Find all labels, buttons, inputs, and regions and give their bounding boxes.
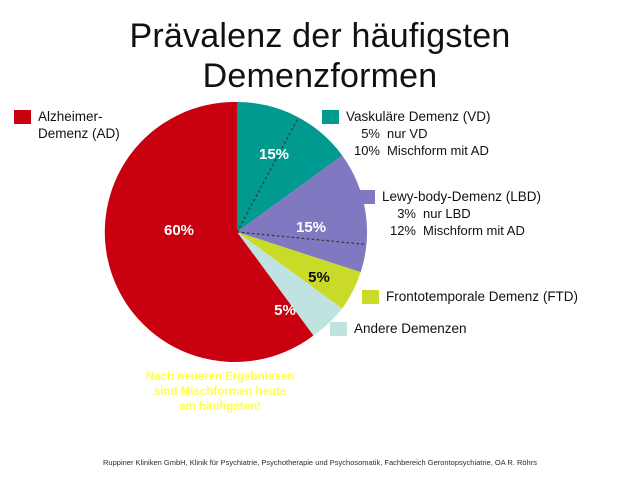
page-title: Prävalenz der häufigsten Demenzformen — [0, 16, 640, 96]
legend-subline-lewy-2-pct: 12% — [382, 222, 416, 239]
pie-label-vaskulaer: 15% — [259, 146, 289, 163]
legend-sublines-vaskulaer: 5% nur VD 10% Mischform mit AD — [346, 125, 491, 159]
legend-label-alzheimer: Alzheimer- Demenz (AD) — [38, 108, 120, 142]
legend-item-ftd[interactable]: Frontotemporale Demenz (FTD) — [362, 288, 578, 305]
legend-swatch-ftd — [362, 290, 379, 304]
legend-label-ftd: Frontotemporale Demenz (FTD) — [386, 288, 578, 305]
legend-swatch-andere — [330, 322, 347, 336]
legend-subline-lewy-2-text: Mischform mit AD — [423, 222, 525, 239]
legend-label-andere: Andere Demenzen — [354, 320, 467, 337]
page-title-line-1: Prävalenz der häufigsten — [0, 16, 640, 56]
legend-item-lewy[interactable]: Lewy-body-Demenz (LBD) 3% nur LBD 12% Mi… — [358, 188, 541, 239]
legend-row-lewy: Lewy-body-Demenz (LBD) — [358, 188, 541, 205]
annotation-text: Nach neueren Ergebnissen sind Mischforme… — [110, 370, 330, 415]
legend-subline-lewy-1-text: nur LBD — [423, 205, 471, 222]
legend-item-andere[interactable]: Andere Demenzen — [330, 320, 467, 337]
legend-swatch-alzheimer — [14, 110, 31, 124]
legend-label-vaskulaer: Vaskuläre Demenz (VD) — [346, 108, 491, 125]
legend-sublines-lewy: 3% nur LBD 12% Mischform mit AD — [382, 205, 541, 239]
legend-subline-vaskulaer-1-pct: 5% — [346, 125, 380, 142]
pie-label-alzheimer: 60% — [164, 222, 194, 239]
legend-subline-vaskulaer-1: 5% nur VD — [346, 125, 491, 142]
legend-swatch-lewy — [358, 190, 375, 204]
legend-label-alzheimer-line-2: Demenz (AD) — [38, 126, 120, 141]
legend-row-vaskulaer: Vaskuläre Demenz (VD) — [322, 108, 491, 125]
legend-subline-vaskulaer-2-text: Mischform mit AD — [387, 142, 489, 159]
pie-label-lewy: 15% — [296, 219, 326, 236]
page-title-line-2: Demenzformen — [0, 56, 640, 96]
legend-label-lewy: Lewy-body-Demenz (LBD) — [382, 188, 541, 205]
legend-subline-vaskulaer-1-text: nur VD — [387, 125, 427, 142]
annotation-line-1: Nach neueren Ergebnissen — [110, 370, 330, 385]
legend-item-vaskulaer[interactable]: Vaskuläre Demenz (VD) 5% nur VD 10% Misc… — [322, 108, 491, 159]
legend-subline-lewy-2: 12% Mischform mit AD — [382, 222, 541, 239]
slide-canvas: Prävalenz der häufigsten Demenzformen 15… — [0, 0, 640, 480]
pie-label-ftd: 5% — [308, 269, 330, 286]
legend-subline-vaskulaer-2: 10% Mischform mit AD — [346, 142, 491, 159]
legend-subline-vaskulaer-2-pct: 10% — [346, 142, 380, 159]
pie-label-andere: 5% — [274, 302, 296, 319]
legend-swatch-vaskulaer — [322, 110, 339, 124]
legend-subline-lewy-1-pct: 3% — [382, 205, 416, 222]
annotation-line-3: am häufigsten! — [110, 400, 330, 415]
legend-item-alzheimer[interactable]: Alzheimer- Demenz (AD) — [14, 108, 184, 142]
annotation-line-2: sind Mischformen heute — [110, 385, 330, 400]
footer-credit: Ruppiner Kliniken GmbH, Klinik für Psych… — [0, 458, 640, 468]
legend-label-alzheimer-line-1: Alzheimer- — [38, 109, 103, 124]
legend-subline-lewy-1: 3% nur LBD — [382, 205, 541, 222]
